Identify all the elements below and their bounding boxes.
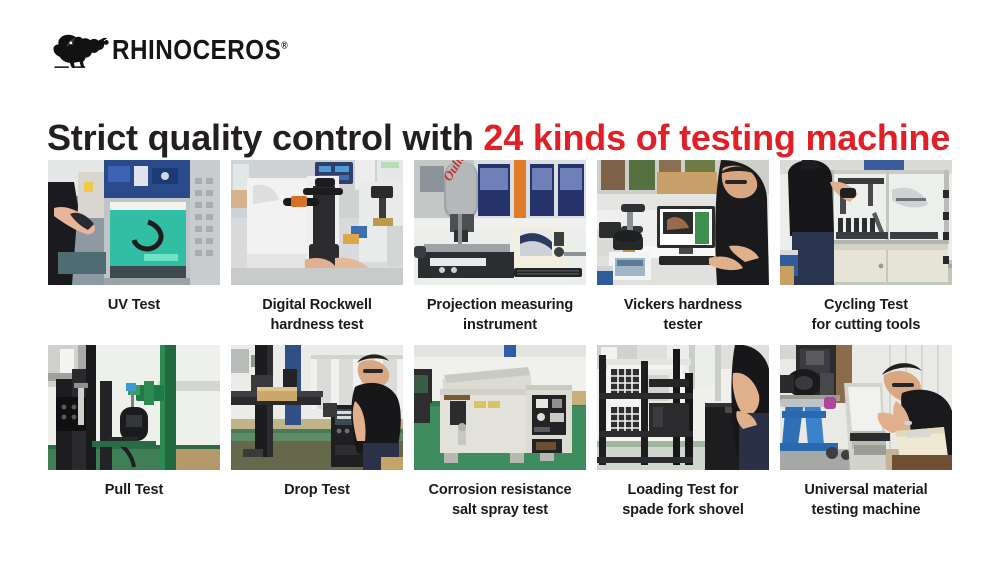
gallery-item-digital-rockwell-hardness-test[interactable]: Digital Rockwellhardness test (231, 160, 403, 335)
brand-wordmark: RHINOCEROS® (112, 36, 288, 64)
drop-test-photo (231, 345, 403, 470)
registered-mark: ® (281, 39, 288, 50)
gallery-item-corrosion-resistance-salt-spray-test[interactable]: Corrosion resistancesalt spray test (414, 345, 586, 520)
gallery-item-pull-test[interactable]: Pull Test (48, 345, 220, 520)
rhinoceros-logo-icon (48, 27, 110, 73)
testing-machine-gallery: UV Test (48, 160, 954, 520)
loading-test-for-spade-fork-shovel-photo (597, 345, 769, 470)
gallery-item-uv-test[interactable]: UV Test (48, 160, 220, 335)
gallery-item-caption: Corrosion resistancesalt spray test (414, 481, 586, 520)
universal-material-testing-machine-photo (780, 345, 952, 470)
cycling-test-for-cutting-tools-photo (780, 160, 952, 285)
projection-measuring-instrument-photo: Ouliang (414, 160, 586, 285)
gallery-item-projection-measuring-instrument[interactable]: Ouliang (414, 160, 586, 335)
gallery-item-loading-test-for-spade-fork-shovel[interactable]: Loading Test forspade fork shovel (597, 345, 769, 520)
gallery-item-universal-material-testing-machine[interactable]: Universal materialtesting machine (780, 345, 952, 520)
gallery-item-caption: Projection measuringinstrument (414, 296, 586, 335)
digital-rockwell-hardness-test-photo (231, 160, 403, 285)
pull-test-photo (48, 345, 220, 470)
gallery-item-caption: Universal materialtesting machine (780, 481, 952, 520)
gallery-item-caption: Cycling Testfor cutting tools (780, 296, 952, 335)
gallery-item-caption: Loading Test forspade fork shovel (597, 481, 769, 520)
brand-logo: RHINOCEROS® (48, 26, 294, 74)
gallery-item-caption: Pull Test (48, 481, 220, 501)
gallery-item-caption: UV Test (48, 296, 220, 316)
gallery-item-caption: Drop Test (231, 481, 403, 501)
gallery-item-vickers-hardness-tester[interactable]: Vickers hardnesstester (597, 160, 769, 335)
brand-name: RHINOCEROS (112, 34, 281, 65)
page-title-accent: 24 kinds of testing machine (483, 117, 950, 158)
gallery-item-caption: Digital Rockwellhardness test (231, 296, 403, 335)
vickers-hardness-tester-photo (597, 160, 769, 285)
gallery-item-caption: Vickers hardnesstester (597, 296, 769, 335)
uv-test-photo (48, 160, 220, 285)
page-title-lead: Strict quality control with (47, 117, 483, 158)
corrosion-resistance-salt-spray-test-photo (414, 345, 586, 470)
gallery-item-cycling-test-for-cutting-tools[interactable]: Cycling Testfor cutting tools (780, 160, 952, 335)
gallery-item-drop-test[interactable]: Drop Test (231, 345, 403, 520)
page-title: Strict quality control with 24 kinds of … (47, 117, 950, 158)
